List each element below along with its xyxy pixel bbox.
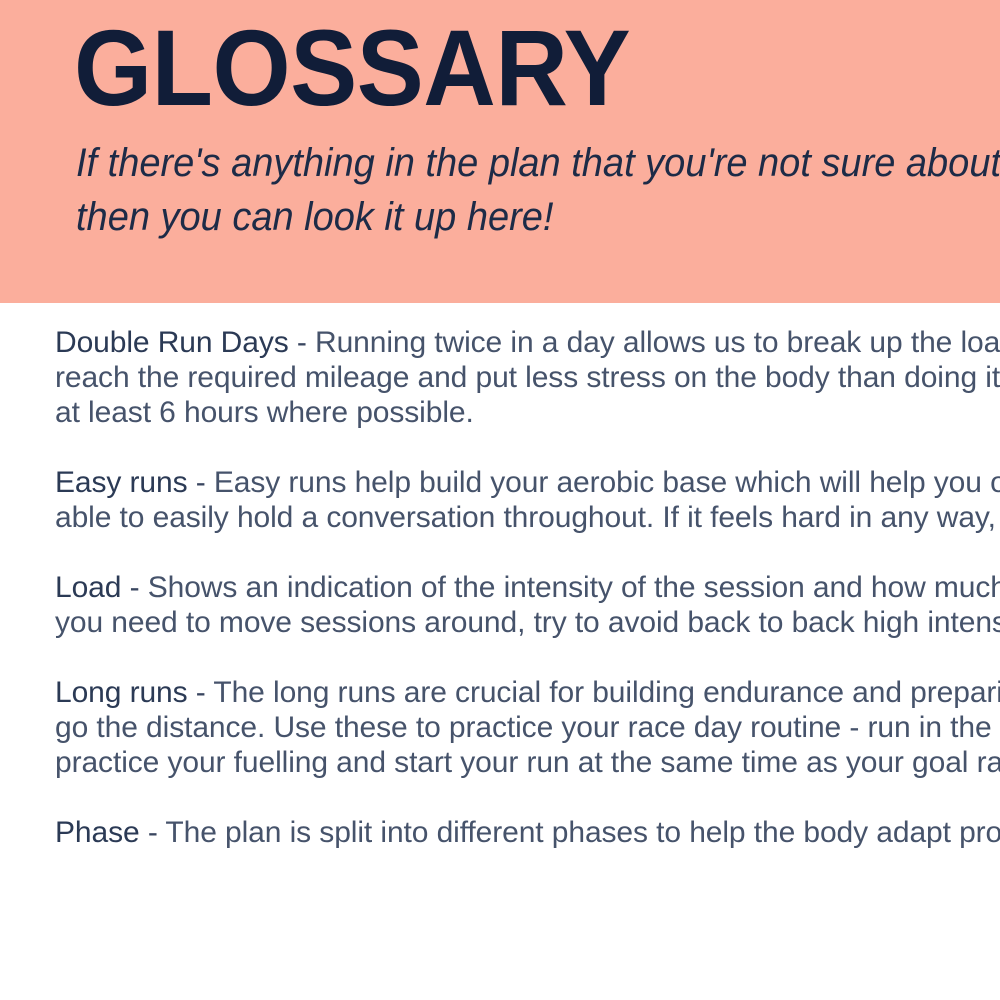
header-band: GLOSSARY If there's anything in the plan… [0, 0, 1000, 303]
glossary-entry: Double Run Days - Running twice in a day… [55, 325, 1000, 430]
glossary-term: Load [55, 571, 121, 604]
glossary-entry: Easy runs - Easy runs help build your ae… [55, 465, 1000, 535]
glossary-separator: - [289, 326, 315, 359]
glossary-term: Double Run Days [55, 326, 289, 359]
glossary-separator: - [121, 571, 147, 604]
subtitle-line-1: If there's anything in the plan that you… [76, 136, 1000, 190]
glossary-definition: The plan is split into different phases … [165, 816, 1000, 849]
glossary-term: Phase [55, 816, 140, 849]
glossary-term: Easy runs [55, 466, 188, 499]
glossary-separator: - [140, 816, 166, 849]
glossary-separator: - [188, 466, 214, 499]
glossary-separator: - [188, 676, 214, 709]
subtitle: If there's anything in the plan that you… [76, 136, 1000, 244]
glossary-definition: Shows an indication of the intensity of … [55, 571, 1000, 639]
glossary-body: Double Run Days - Running twice in a day… [0, 303, 1000, 1000]
glossary-page: GLOSSARY If there's anything in the plan… [0, 0, 1000, 1000]
glossary-term: Long runs [55, 676, 188, 709]
subtitle-line-2: then you can look it up here! [76, 190, 1000, 244]
glossary-entry: Long runs - The long runs are crucial fo… [55, 675, 1000, 780]
page-title: GLOSSARY [74, 14, 630, 122]
glossary-entry: Phase - The plan is split into different… [55, 815, 1000, 850]
glossary-entry: Load - Shows an indication of the intens… [55, 570, 1000, 640]
glossary-entry-list: Double Run Days - Running twice in a day… [55, 325, 1000, 885]
